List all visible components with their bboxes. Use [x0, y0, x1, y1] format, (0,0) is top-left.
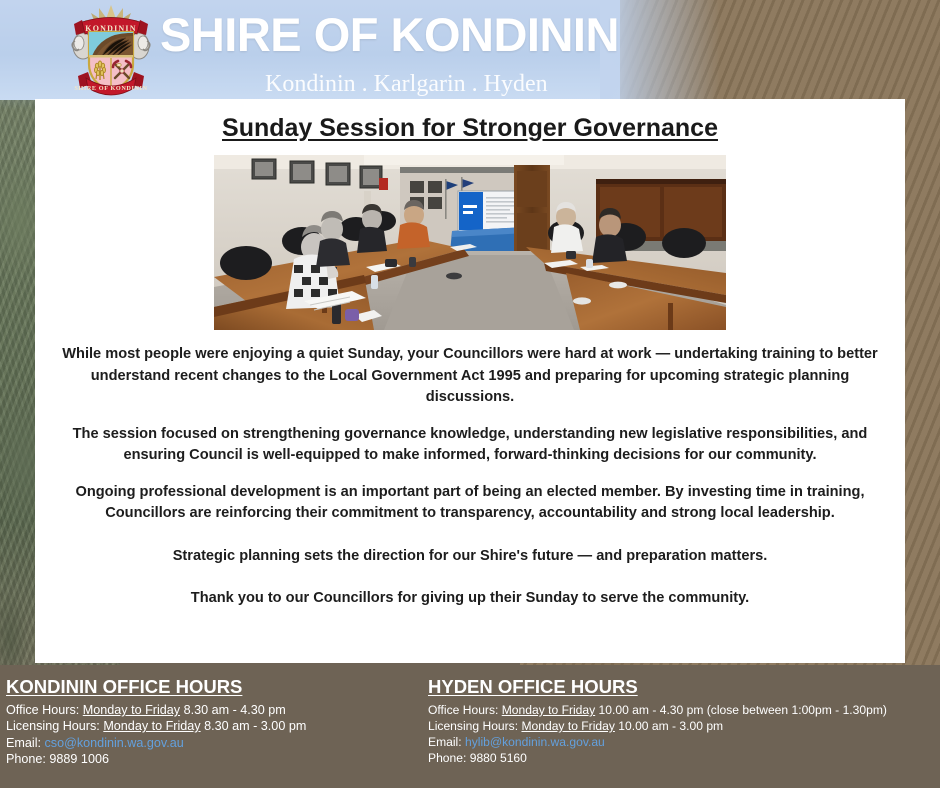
content-panel: Sunday Session for Stronger Governance — [35, 99, 905, 663]
paragraph-4: Strategic planning sets the direction fo… — [57, 546, 883, 568]
hyden-email-label: Email: — [428, 735, 462, 749]
hyden-office-block: HYDEN OFFICE HOURS Office Hours: Monday … — [428, 676, 938, 766]
shire-title: SHIRE OF KONDININ — [160, 5, 619, 65]
kondinin-email-line: Email: cso@kondinin.wa.gov.au — [6, 735, 426, 751]
hyden-email-line: Email: hylib@kondinin.wa.gov.au — [428, 734, 938, 750]
hyden-office-hours-label: Office Hours: — [428, 703, 498, 717]
kondinin-licensing-time: 8.30 am - 3.00 pm — [204, 719, 306, 733]
paragraph-2: The session focused on strengthening gov… — [57, 424, 883, 467]
council-meeting-photo — [214, 155, 726, 330]
hyden-phone-line: Phone: 9880 5160 — [428, 750, 938, 766]
kondinin-office-hours-time: 8.30 am - 4.30 pm — [184, 703, 286, 717]
hyden-office-heading: HYDEN OFFICE HOURS — [428, 676, 938, 698]
kondinin-licensing-hours-line: Licensing Hours: Monday to Friday 8.30 a… — [6, 718, 426, 734]
kondinin-office-block: KONDININ OFFICE HOURS Office Hours: Mond… — [6, 676, 426, 768]
kondinin-office-hours-line: Office Hours: Monday to Friday 8.30 am -… — [6, 702, 426, 718]
hyden-phone-label: Phone: — [428, 751, 466, 765]
paragraph-5: Thank you to our Councillors for giving … — [57, 588, 883, 610]
hyden-licensing-days: Monday to Friday — [521, 719, 614, 733]
shire-crest-icon: KONDININ — [62, 2, 160, 102]
kondinin-office-hours-label: Office Hours: — [6, 703, 79, 717]
kondinin-phone-number: 9889 1006 — [49, 752, 109, 766]
body-copy: While most people were enjoying a quiet … — [35, 344, 905, 610]
shire-tagline: Kondinin . Karlgarin . Hyden — [265, 70, 548, 98]
kondinin-email-label: Email: — [6, 736, 41, 750]
poster-canvas: KONDININ — [0, 0, 940, 788]
hyden-email-link[interactable]: hylib@kondinin.wa.gov.au — [465, 735, 605, 749]
page-title: Sunday Session for Stronger Governance — [35, 113, 905, 143]
kondinin-email-link[interactable]: cso@kondinin.wa.gov.au — [45, 736, 184, 750]
page-header: KONDININ — [0, 0, 940, 99]
paragraph-3: Ongoing professional development is an i… — [57, 482, 883, 525]
hyden-licensing-hours-line: Licensing Hours: Monday to Friday 10.00 … — [428, 718, 938, 734]
paragraph-1: While most people were enjoying a quiet … — [57, 344, 883, 409]
kondinin-office-hours-days: Monday to Friday — [83, 703, 180, 717]
hyden-office-hours-line: Office Hours: Monday to Friday 10.00 am … — [428, 702, 938, 718]
hyden-office-hours-days: Monday to Friday — [502, 703, 595, 717]
kondinin-licensing-days: Monday to Friday — [103, 719, 200, 733]
hyden-licensing-time: 10.00 am - 3.00 pm — [618, 719, 723, 733]
kondinin-phone-line: Phone: 9889 1006 — [6, 751, 426, 767]
hyden-licensing-label: Licensing Hours: — [428, 719, 518, 733]
kondinin-licensing-label: Licensing Hours: — [6, 719, 100, 733]
page-footer: KONDININ OFFICE HOURS Office Hours: Mond… — [0, 665, 940, 788]
hyden-phone-number: 9880 5160 — [470, 751, 527, 765]
kondinin-office-heading: KONDININ OFFICE HOURS — [6, 676, 426, 698]
svg-text:SHIRE OF KONDININ: SHIRE OF KONDININ — [74, 85, 147, 92]
hyden-office-hours-time: 10.00 am - 4.30 pm (close between 1:00pm… — [599, 703, 887, 717]
kondinin-phone-label: Phone: — [6, 752, 46, 766]
